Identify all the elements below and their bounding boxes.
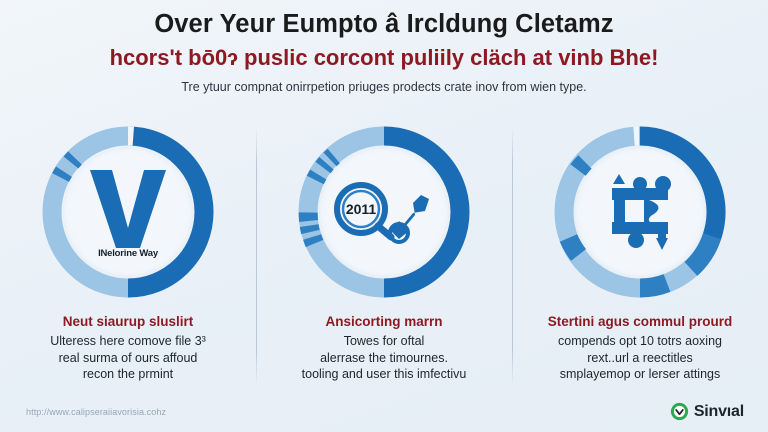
panel-3-heading: Stertini agus commul prourd	[526, 314, 754, 331]
panel-2-body-line: tooling and user this imfectivu	[270, 366, 498, 383]
magnifier-wrench-glyph: 2011	[329, 177, 439, 247]
panel-2-body: Towes for oftal alerrase the timournes. …	[270, 333, 498, 383]
letter-v-glyph	[82, 166, 174, 252]
footer-url[interactable]: http://www.calipseraiiavorisia.cohz	[26, 407, 166, 417]
subheadline: Tre ytuur compnat onirrpetion priuges pr…	[26, 80, 742, 95]
donut-ring-1: INelorine Way	[42, 126, 214, 298]
panel-2-heading: Ansicorting marrn	[270, 314, 498, 331]
panel-3-body: compends opt 10 totrs aoxing rext..url a…	[526, 333, 754, 383]
panel-3: Stertini agus commul prourd compends opt…	[512, 120, 768, 395]
panel-3-caption: Stertini agus commul prourd compends opt…	[520, 314, 760, 383]
check-circle-icon	[670, 402, 689, 421]
crown-pillars-glyph	[592, 166, 688, 258]
header: Over Yeur Eumpto â Ircldung Cletamz hcor…	[0, 0, 768, 95]
panel-2-caption: Ansicorting marrn Towes for oftal alerra…	[264, 314, 504, 383]
panel-1-body-line: recon the prmint	[14, 366, 242, 383]
panel-3-body-line: compends opt 10 totrs aoxing	[526, 333, 754, 350]
panel-2-body-line: Towes for oftal	[270, 333, 498, 350]
panel-1-heading: Neut siaurup sluslirt	[14, 314, 242, 331]
panel-2: 2011 Ansicorting marrn Towes for oftal a…	[256, 120, 512, 395]
panel-columns: INelorine Way Neut siaurup sluslirt Ulte…	[0, 120, 768, 395]
magnifier-wrench-icon: 2011	[319, 147, 449, 277]
icon-caption-1: INelorine Way	[98, 248, 158, 259]
magnifier-year-label: 2011	[346, 201, 377, 217]
headline-red: hcors't bō0ɂ puslic corcont puliily cläc…	[26, 45, 742, 71]
panel-1-body: Ulteress here comove file 3³ real surma …	[14, 333, 242, 383]
panel-3-body-line: smplayemop or lerser attings	[526, 366, 754, 383]
crown-pillars-icon	[575, 147, 705, 277]
panel-1-body-line: real surma of ours affoud	[14, 350, 242, 367]
donut-ring-2: 2011	[298, 126, 470, 298]
brand-logo: Sinvıal	[670, 402, 744, 421]
footer: http://www.calipseraiiavorisia.cohz Sinv…	[0, 395, 768, 432]
letter-v-icon: INelorine Way	[63, 147, 193, 277]
panel-2-body-line: alerrase the timournes.	[270, 350, 498, 367]
donut-ring-3	[554, 126, 726, 298]
panel-1-caption: Neut siaurup sluslirt Ulteress here como…	[8, 314, 248, 383]
panel-3-body-line: rext..url a reectitles	[526, 350, 754, 367]
brand-name: Sinvıal	[694, 403, 744, 421]
page-title: Over Yeur Eumpto â Ircldung Cletamz	[26, 10, 742, 40]
slide-canvas: Over Yeur Eumpto â Ircldung Cletamz hcor…	[0, 0, 768, 432]
panel-1-body-line: Ulteress here comove file 3³	[14, 333, 242, 350]
panel-1: INelorine Way Neut siaurup sluslirt Ulte…	[0, 120, 256, 395]
